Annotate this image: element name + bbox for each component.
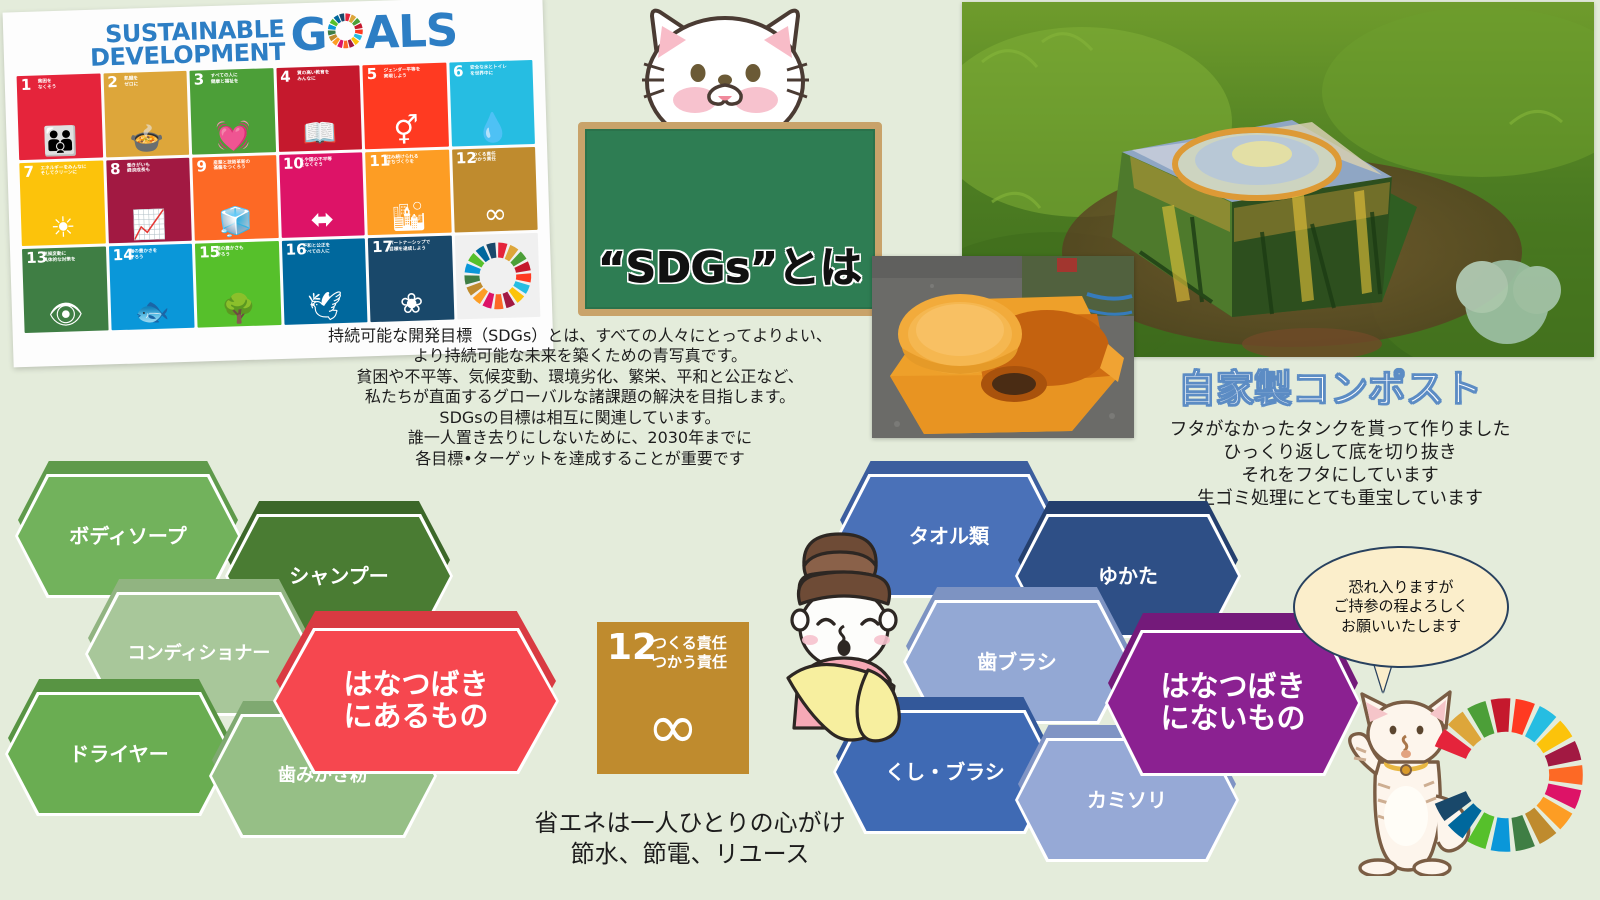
sdg-goal-glyph-icon: ⚥ [364,115,448,146]
speech-bubble: 恐れ入りますが ご持参の程よろしく お願いいたします [1293,546,1509,668]
sdg-goal-glyph-icon: 🏙 [367,202,451,233]
sdg-goal-5: 5ジェンダー平等を 実現しよう⚥ [362,63,448,149]
sdg-goal-caption: 住み続けられる まちづくりを [386,154,419,166]
sdg-heading-g: G [290,14,327,56]
sdg-goal-glyph-icon: 👪 [18,126,102,157]
hexagon-body-soap: ボディソープ [18,477,238,595]
sdg-goal-number: 8 [110,162,121,177]
sdg-goal-caption: パートナーシップで 目標を達成しよう [389,240,431,253]
sdg-goal-glyph-icon: 📈 [107,210,191,241]
sdg-goal-17: 17パートナーシップで 目標を達成しよう❀ [368,236,454,322]
sdg-goal-caption: 質の高い教育を みんなに [297,70,330,82]
sdg-goal-caption: 安全な水とトイレ を世界中に [470,65,507,78]
sdg-goal-12: 12つくる責任 つかう責任∞ [452,146,538,232]
sdg-goal-number: 1 [21,78,32,93]
compost-title: 自家製コンポスト [1130,358,1530,413]
sdg-goal-16: 16平和と公正を すべての人に🕊 [281,238,367,324]
sdg-poster: SUSTAINABLE DEVELOPMENT G ALS 1貧困を なくそう👪… [3,0,554,367]
hexagon-label: ドライヤー [8,695,230,813]
sdg-wheel-tile [454,233,540,319]
sdg-goal-3: 3すべての人に 健康と福祉を💓 [189,68,275,154]
sdg-description-text: 持続可能な開発目標（SDGs）とは、すべての人々にとってよりよい、 より持続可能… [280,326,880,469]
sdg-goal-glyph-icon: 💓 [191,121,275,152]
sdg-heading-als: ALS [364,10,458,53]
sdg-goal-caption: つくる責任 つかう責任 [473,152,496,164]
sdg-color-wheel-icon [1426,690,1586,860]
sdg-goal-caption: 海の豊かさを 守ろう [130,249,158,261]
sdg-goal-grid: 1貧困を なくそう👪2飢餓を ゼロに🍲3すべての人に 健康と福祉を💓4質の高い教… [15,60,543,333]
sdg-goal-caption: エネルギーをみんなに そしてクリーンに [40,165,86,178]
sdg-goal-number: 4 [280,70,291,85]
sdg-heading-words: SUSTAINABLE DEVELOPMENT [89,14,285,70]
sdg-goal-caption: ジェンダー平等を 実現しよう [384,68,421,81]
sdg-goal-glyph-icon: 🕊 [283,291,367,322]
sdg-goal-caption: 陸の豊かさも 守ろう [216,246,244,258]
energy-saving-text: 省エネは一人ひとりの心がけ 節水、節電、リユース [480,808,900,869]
sdg-goal-glyph-icon: ∞ [453,199,537,230]
hexagon-label: はなつばき にないもの [1108,633,1358,773]
sdg-goal-caption: 人や国の不平等 をなくそう [300,157,333,169]
sdg-goal-number: 2 [107,75,118,90]
hexagon-hair-dryer: ドライヤー [8,695,230,813]
sdg-goal-15: 15陸の豊かさも 守ろう🌳 [195,241,281,327]
sdg-heading-goals: G ALS [290,8,458,57]
hexagon-label: はなつばき にあるもの [276,631,556,771]
sdg-goal-7: 7エネルギーをみんなに そしてクリーンに☀ [19,160,105,246]
sdg-goal-glyph-icon: ❀ [369,288,453,319]
sdg-goal-glyph-icon: 🧊 [194,207,278,238]
sdg-goal-13: 13気候変動に 具体的な対策を👁 [22,247,108,333]
hexagon-label: ボディソープ [18,477,238,595]
sdg-goal-number: 9 [196,159,207,174]
chalkboard-text: “SDGs”とは [585,234,875,295]
sdg-goal-caption: 平和と公正を すべての人に [302,243,330,255]
sdg-goal-glyph-icon: 🐟 [110,296,194,327]
orange-tank-photo [872,256,1134,438]
sdg12-caption: つくる責任 つかう責任 [652,634,727,672]
infinity-icon: ∞ [597,696,749,758]
sdg-goal-caption: すべての人に 健康と福祉を [211,73,239,85]
sdg-heading-line2: DEVELOPMENT [90,41,286,70]
sdg-goal-4: 4質の高い教育を みんなに📖 [276,65,362,151]
sdg-goal-glyph-icon: 🌳 [197,294,281,325]
woman-towel-icon [778,528,918,778]
sdg-goal-glyph-icon: ⬌ [280,204,364,235]
sdg-goal-8: 8働きがいも 経済成長も📈 [106,157,192,243]
sdg-goal-glyph-icon: 🍲 [105,123,189,154]
sdg-goal-caption: 気候変動に 具体的な対策を [43,251,76,263]
sdg-goal-glyph-icon: 📖 [278,118,362,149]
chalkboard: “SDGs”とは [578,122,882,316]
speech-bubble-text: 恐れ入りますが ご持参の程よろしく お願いいたします [1333,578,1468,637]
chalkboard-group: “SDGs”とは [560,0,880,330]
sdg-goal-caption: 産業と技術革新の 基盤をつくろう [213,159,250,172]
sdg-wheel-icon-small [326,11,365,56]
sdg-goal-number: 6 [453,64,464,79]
sdg-goal-6: 6安全な水とトイレ を世界中に💧 [449,60,535,146]
sdg-goal-12-tile: 12 つくる責任 つかう責任 ∞ [597,622,749,774]
sdg-goal-1: 1貧困を なくそう👪 [17,74,103,160]
sdg-goal-number: 5 [366,67,377,82]
sdg-goal-caption: 貧困を なくそう [38,79,57,91]
sdg12-number: 12 [607,630,657,666]
sdg-goal-number: 7 [23,164,34,179]
sdg-goal-number: 3 [194,72,205,87]
sdg-goal-11: 11住み続けられる まちづくりを🏙 [365,149,451,235]
sdg-goal-caption: 飢餓を ゼロに [124,76,138,88]
sdg-goal-9: 9産業と技術革新の 基盤をつくろう🧊 [192,155,278,241]
hexagon-cluster-available: ボディソープシャンプーコンディショナードライヤー歯みがき粉はなつばき にあるもの [0,455,580,855]
sdg-goal-caption: 働きがいも 経済成長も [127,163,150,175]
hexagon-items-available: はなつばき にあるもの [276,631,556,771]
sdg-goal-10: 10人や国の不平等 をなくそう⬌ [279,152,365,238]
sdg-goal-glyph-icon: 👁 [24,299,108,330]
hexagon-items-not-available: はなつばき にないもの [1108,633,1358,773]
sdg-goal-glyph-icon: ☀ [21,213,105,244]
sdg-goal-14: 14海の豊かさを 守ろう🐟 [108,244,194,330]
sdg-goal-glyph-icon: 💧 [450,112,534,143]
sdg-goal-2: 2飢餓を ゼロに🍲 [103,71,189,157]
